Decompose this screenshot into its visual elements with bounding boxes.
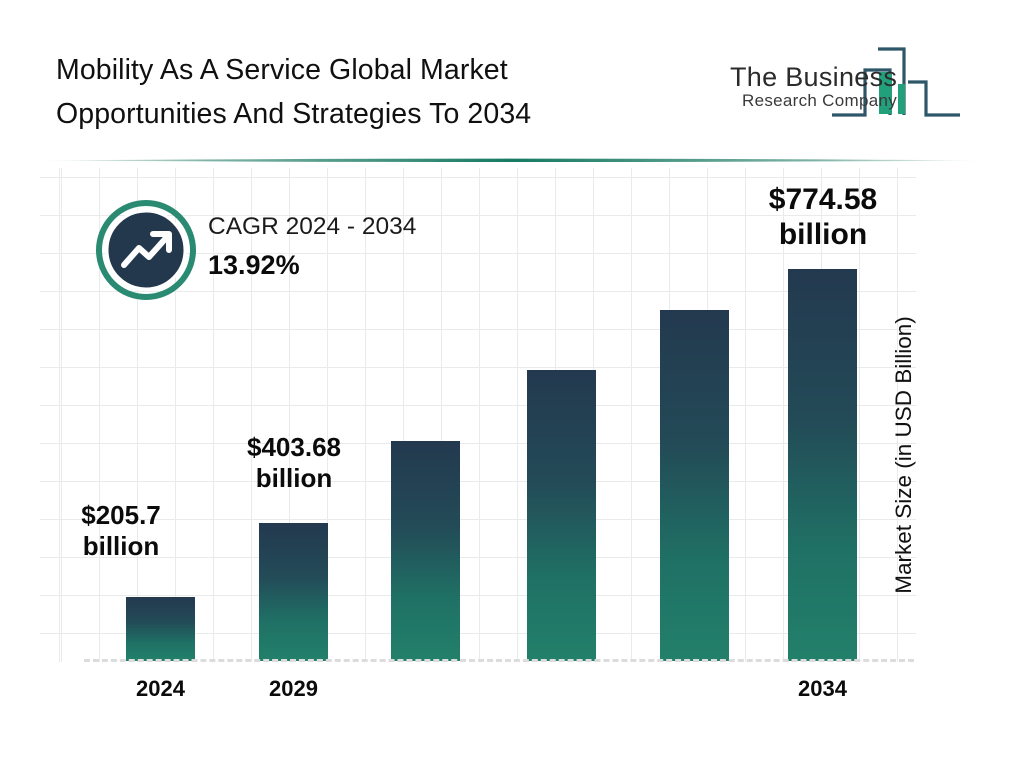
y-axis-title-text: Market Size (in USD Billion)	[891, 316, 917, 594]
cagr-text-block: CAGR 2024 - 2034 13.92%	[208, 212, 488, 284]
value-label-2024: $205.7 billion	[66, 500, 176, 561]
bar-5[interactable]	[660, 310, 729, 661]
y-axis-title: Market Size (in USD Billion)	[882, 270, 926, 640]
header-divider	[36, 158, 988, 163]
bar-2034[interactable]	[788, 269, 857, 661]
x-tick-2024: 2024	[126, 676, 195, 702]
bar-4[interactable]	[527, 370, 596, 661]
cagr-period-label: CAGR 2024 - 2034	[208, 212, 488, 242]
page-title: Mobility As A Service Global Market Oppo…	[56, 48, 696, 136]
x-tick-2034: 2034	[788, 676, 857, 702]
bar-2[interactable]	[259, 523, 328, 661]
axis-baseline	[84, 659, 914, 662]
header: Mobility As A Service Global Market Oppo…	[0, 0, 1024, 158]
cagr-badge: CAGR 2024 - 2034 13.92%	[96, 200, 496, 308]
x-tick-2029: 2029	[259, 676, 328, 702]
bar-2029[interactable]	[391, 441, 460, 661]
svg-text:Research Company: Research Company	[742, 91, 897, 110]
bar-2024[interactable]	[126, 597, 195, 661]
x-axis-labels: 2024 2029 2034	[40, 676, 916, 712]
chart-page: Mobility As A Service Global Market Oppo…	[0, 0, 1024, 768]
cagr-value: 13.92%	[208, 246, 488, 284]
value-label-2029: $403.68 billion	[218, 432, 370, 493]
svg-text:The Business: The Business	[730, 62, 897, 92]
company-logo: The Business Research Company	[722, 36, 972, 136]
value-label-2034: $774.58 billion	[742, 182, 904, 253]
trend-up-arrow-icon	[96, 200, 196, 300]
